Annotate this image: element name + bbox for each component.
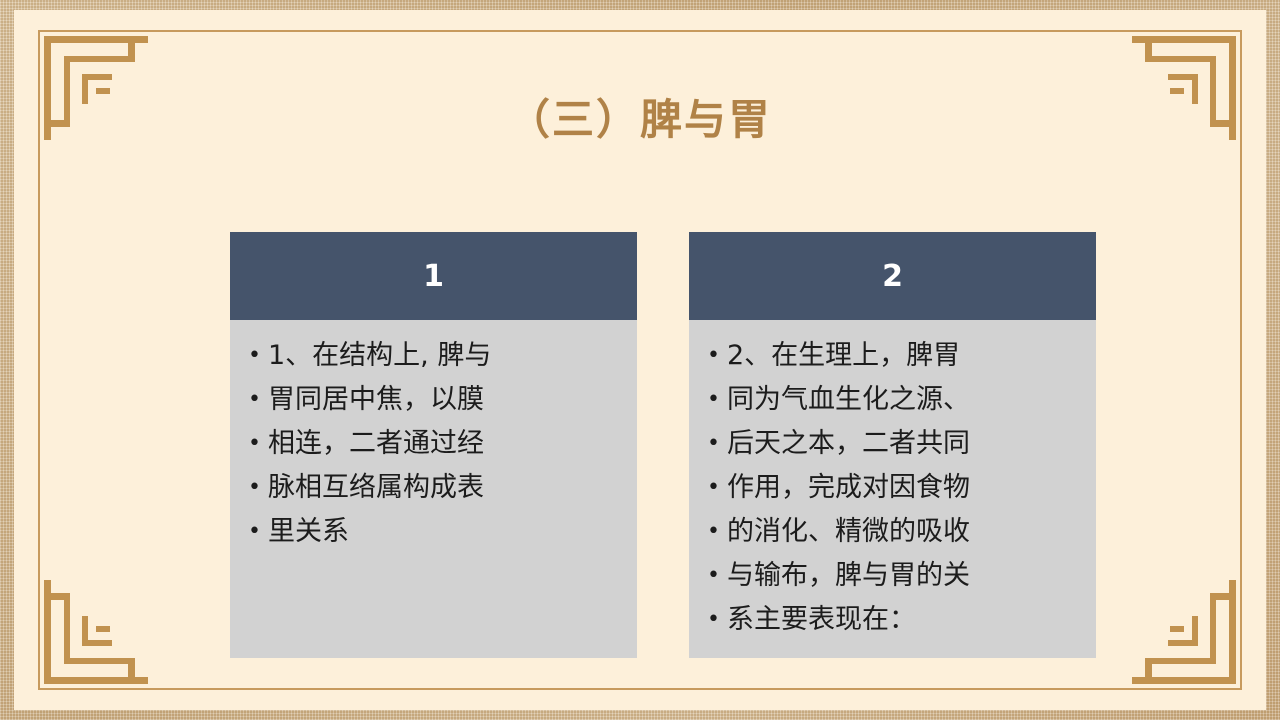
bullet-dot-icon: •: [248, 510, 268, 554]
list-item: • 胃同居中焦，以膜: [248, 378, 619, 422]
card-1-number: 1: [230, 232, 637, 320]
bullet-dot-icon: •: [248, 466, 268, 510]
list-item-text: 1、在结构上, 脾与: [268, 334, 619, 378]
list-item: • 2、在生理上，脾胃: [707, 334, 1078, 378]
slide-title: （三）脾与胃: [14, 86, 1266, 147]
list-item-text: 后天之本，二者共同: [727, 422, 1078, 466]
list-item-text: 同为气血生化之源、: [727, 378, 1078, 422]
bullet-dot-icon: •: [707, 422, 727, 466]
list-item: • 作用，完成对因食物: [707, 466, 1078, 510]
content-card-2: 2 • 2、在生理上，脾胃 • 同为气血生化之源、 • 后天之本，二者共同: [689, 232, 1096, 658]
card-1-body: • 1、在结构上, 脾与 • 胃同居中焦，以膜 • 相连，二者通过经 • 脉相互…: [230, 320, 637, 650]
list-item: • 相连，二者通过经: [248, 422, 619, 466]
corner-ornament-bottom-right: [1132, 580, 1236, 684]
list-item-text: 胃同居中焦，以膜: [268, 378, 619, 422]
list-item-text: 里关系: [268, 510, 619, 554]
list-item: • 1、在结构上, 脾与: [248, 334, 619, 378]
bullet-dot-icon: •: [248, 334, 268, 378]
list-item-text: 作用，完成对因食物: [727, 466, 1078, 510]
bullet-dot-icon: •: [707, 334, 727, 378]
card-2-number: 2: [689, 232, 1096, 320]
list-item-text: 的消化、精微的吸收: [727, 510, 1078, 554]
bullet-dot-icon: •: [707, 510, 727, 554]
slide-page: （三）脾与胃 1 • 1、在结构上, 脾与 • 胃同居中焦，以膜 • 相连，二者…: [14, 10, 1266, 710]
content-card-1: 1 • 1、在结构上, 脾与 • 胃同居中焦，以膜 • 相连，二者通过经: [230, 232, 637, 658]
bullet-dot-icon: •: [707, 598, 727, 642]
list-item: • 同为气血生化之源、: [707, 378, 1078, 422]
list-item: • 里关系: [248, 510, 619, 554]
list-item: • 与输布，脾与胃的关: [707, 554, 1078, 598]
bullet-dot-icon: •: [707, 554, 727, 598]
list-item-text: 系主要表现在：: [727, 598, 1078, 642]
list-item: • 系主要表现在：: [707, 598, 1078, 642]
slide-canvas: （三）脾与胃 1 • 1、在结构上, 脾与 • 胃同居中焦，以膜 • 相连，二者…: [0, 0, 1280, 720]
list-item-text: 相连，二者通过经: [268, 422, 619, 466]
bullet-dot-icon: •: [248, 378, 268, 422]
bullet-dot-icon: •: [707, 378, 727, 422]
list-item: • 的消化、精微的吸收: [707, 510, 1078, 554]
list-item-text: 与输布，脾与胃的关: [727, 554, 1078, 598]
bullet-dot-icon: •: [248, 422, 268, 466]
bullet-dot-icon: •: [707, 466, 727, 510]
corner-ornament-bottom-left: [44, 580, 148, 684]
card-group: 1 • 1、在结构上, 脾与 • 胃同居中焦，以膜 • 相连，二者通过经: [230, 232, 1096, 658]
list-item: • 后天之本，二者共同: [707, 422, 1078, 466]
list-item: • 脉相互络属构成表: [248, 466, 619, 510]
list-item-text: 2、在生理上，脾胃: [727, 334, 1078, 378]
list-item-text: 脉相互络属构成表: [268, 466, 619, 510]
card-2-body: • 2、在生理上，脾胃 • 同为气血生化之源、 • 后天之本，二者共同 • 作用…: [689, 320, 1096, 658]
